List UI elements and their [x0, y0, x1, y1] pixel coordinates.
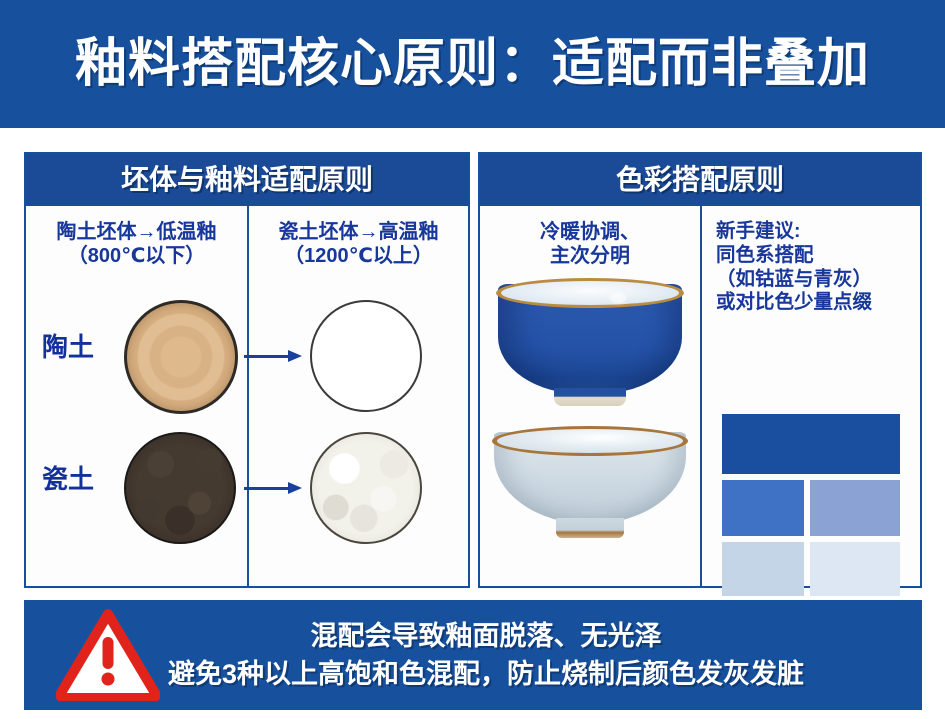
matrix-row-terracotta: 陶土 [26, 296, 468, 416]
celadon-grey-bowl [490, 426, 690, 552]
panel-heading-left: 坯体与釉料适配原则 [121, 166, 373, 194]
terracotta-clay-disk [124, 300, 238, 414]
column-harmony: 冷暖协调、 主次分明 [480, 206, 700, 588]
color-swatch-grid [722, 414, 900, 578]
row-label-porcelain: 瓷土 [42, 466, 94, 492]
bowl-gallery [480, 276, 700, 586]
warning-bar: 混配会导致釉面脱落、无光泽 避免3种以上高饱和色混配，防止烧制后颜色发灰发脏 [24, 600, 922, 710]
caption-beginner-advice: 新手建议: 同色系搭配 （如钴蓝与青灰） 或对比色少量点缀 [702, 206, 876, 315]
panel-header-right: 色彩搭配原则 [480, 154, 920, 206]
warning-triangle-icon [56, 609, 160, 701]
title-band: 釉料搭配核心原则：适配而非叠加 [0, 0, 945, 128]
panel-body-glaze-match: 坯体与釉料适配原则 陶土坯体→低温釉 （800℃以下） 瓷土坯体→高温釉 （12… [24, 152, 470, 588]
swatch-lightest-blue [810, 542, 900, 596]
panel-header-left: 坯体与釉料适配原则 [26, 154, 468, 206]
panel-body-left: 陶土坯体→低温釉 （800℃以下） 瓷土坯体→高温釉 （1200℃以上） 陶土 … [26, 206, 468, 588]
dark-soil-disk [124, 432, 236, 544]
page-title: 釉料搭配核心原则：适配而非叠加 [75, 38, 870, 90]
panel-heading-right: 色彩搭配原则 [616, 166, 784, 194]
right-arrow-icon [244, 350, 306, 362]
swatch-blue-medium [722, 480, 804, 536]
right-arrow-icon [244, 482, 306, 494]
white-powder-disk [310, 432, 422, 544]
swatch-cobalt-dark [722, 414, 900, 474]
row-label-terracotta: 陶土 [42, 334, 94, 360]
matrix-row-porcelain: 瓷土 [26, 428, 468, 548]
caption-terracotta: 陶土坯体→低温釉 （800℃以下） [53, 206, 221, 269]
caption-porcelain: 瓷土坯体→高温釉 （1200℃以上） [275, 206, 443, 269]
column-beginner-advice: 新手建议: 同色系搭配 （如钴蓝与青灰） 或对比色少量点缀 [700, 206, 920, 588]
clay-glaze-matrix: 陶土 瓷土 [26, 294, 468, 588]
panel-body-right: 冷暖协调、 主次分明 [480, 206, 920, 588]
infographic-root: 釉料搭配核心原则：适配而非叠加 坯体与釉料适配原则 陶土坯体→低温釉 （800℃… [0, 0, 945, 719]
swatch-periwinkle [810, 480, 900, 536]
swatch-pale-blue [722, 542, 804, 596]
caption-harmony: 冷暖协调、 主次分明 [536, 206, 644, 269]
warning-text: 混配会导致釉面脱落、无光泽 避免3种以上高饱和色混配，防止烧制后颜色发灰发脏 [160, 617, 922, 694]
panel-color-match: 色彩搭配原则 冷暖协调、 主次分明 [478, 152, 922, 588]
cobalt-blue-tea-bowl [492, 276, 688, 418]
empty-circle-outline-icon [310, 300, 422, 412]
